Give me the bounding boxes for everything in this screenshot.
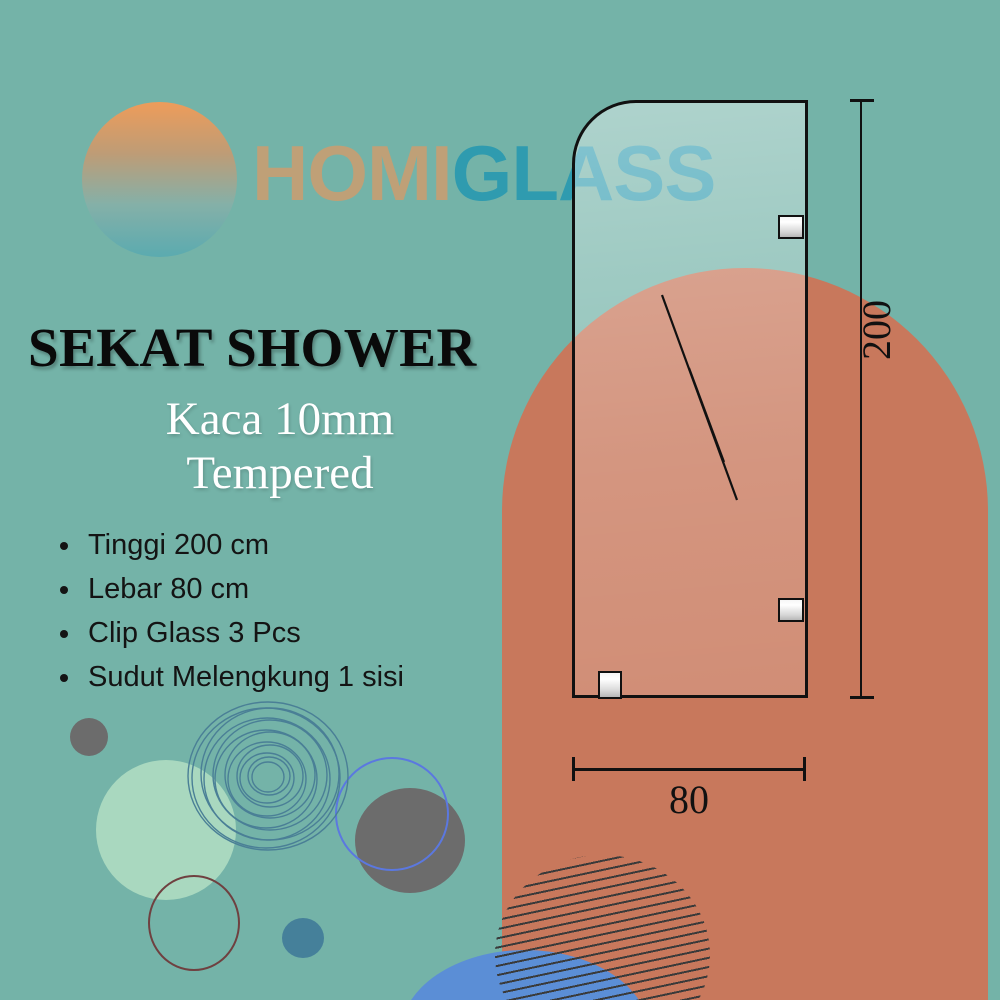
subtitle-line-1: Kaca 10mm: [100, 392, 460, 446]
dimension-cap-top: [850, 99, 874, 102]
clip-glass-right-bottom: [778, 598, 804, 622]
feature-bullet-list: Tinggi 200 cm Lebar 80 cm Clip Glass 3 P…: [46, 523, 404, 699]
page-subtitle: Kaca 10mm Tempered: [100, 392, 460, 500]
concentric-circles-decoration: [186, 700, 351, 855]
gray-small-dot-decoration: [70, 718, 108, 756]
blue-ring-decoration: [335, 757, 449, 871]
list-item: Clip Glass 3 Pcs: [46, 611, 404, 655]
page-title: SEKAT SHOWER: [28, 316, 477, 379]
clip-glass-right-top: [778, 215, 804, 239]
list-item: Sudut Melengkung 1 sisi: [46, 655, 404, 699]
maroon-ring-decoration: [148, 875, 240, 971]
list-item: Tinggi 200 cm: [46, 523, 404, 567]
glass-reflection-lines: [572, 100, 812, 700]
dimension-cap-bottom: [850, 696, 874, 699]
subtitle-line-2: Tempered: [100, 446, 460, 500]
poster-canvas: HOMIGLASS 200 80 SEKAT SHOWER Kaca 10mm …: [0, 0, 1000, 1000]
brand-homi-text: HOMI: [252, 129, 452, 217]
dimension-line-horizontal: [572, 768, 806, 771]
list-item: Lebar 80 cm: [46, 567, 404, 611]
dimension-line-vertical: [860, 100, 862, 698]
dimension-label-width: 80: [572, 776, 806, 823]
steel-blue-dot-decoration: [282, 918, 324, 958]
dimension-label-height: 200: [853, 300, 900, 360]
gradient-sun-circle: [82, 102, 237, 257]
clip-glass-bottom-left: [598, 671, 622, 699]
